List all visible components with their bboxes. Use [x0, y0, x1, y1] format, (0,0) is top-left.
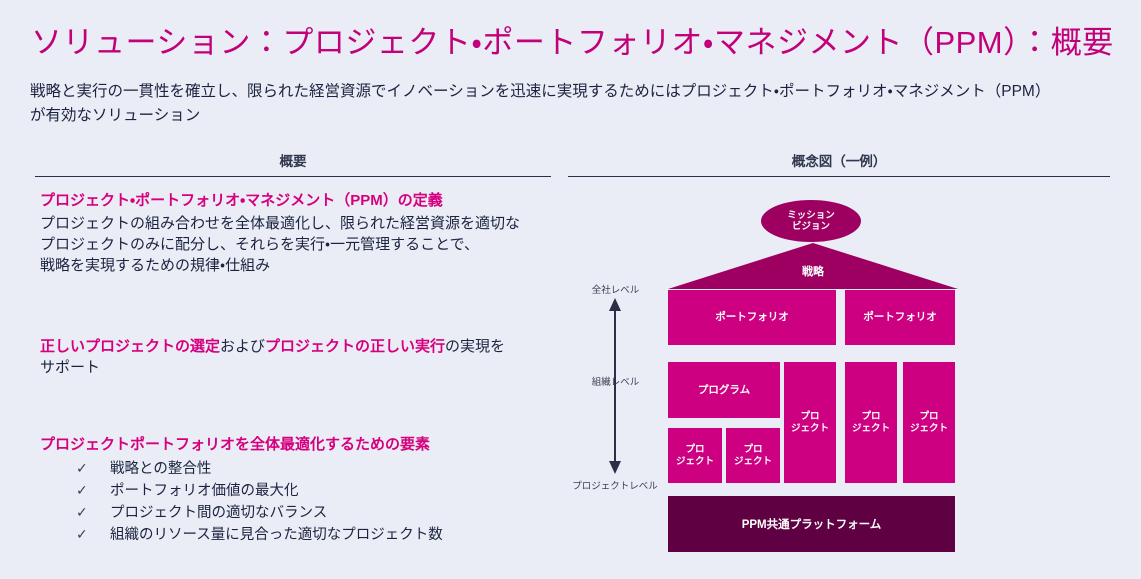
support-tail: の実現を: [445, 338, 505, 355]
definition-heading: プロジェクト・ポートフォリオ・マネジメント（PPM）の定義: [40, 190, 560, 212]
program-box-1: プログラム: [668, 362, 780, 418]
right-column-divider: [568, 176, 1110, 177]
definition-line-2: プロジェクトのみに配分し、それらを実行・一元管理することで、: [40, 234, 560, 255]
list-item-label: プロジェクト間の適切なバランス: [110, 505, 327, 521]
support-emphasis-2: プロジェクトの正しい実行: [265, 338, 445, 355]
project-box-d: プロ ジェクト: [845, 362, 897, 483]
list-item: ✓ 戦略との整合性: [76, 458, 560, 480]
list-item: ✓ プロジェクト間の適切なバランス: [76, 502, 560, 524]
list-item-label: ポートフォリオ価値の最大化: [110, 483, 299, 499]
left-column-header: 概要: [35, 150, 551, 170]
concept-diagram: ミッション ビジョン 戦略 ポートフォリオ ポートフォリオ プログラム プロ ジ…: [568, 186, 1110, 566]
page-title: ソリューション：プロジェクト・ポートフォリオ・マネジメント（PPM）：概要: [31, 17, 1114, 62]
level-label-project: プロジェクトレベル: [560, 478, 670, 492]
level-axis-arrow-icon: [594, 298, 636, 474]
mission-vision-ellipse: ミッション ビジョン: [761, 200, 861, 242]
list-item-label: 組織のリソース量に見合った適切なプロジェクト数: [110, 527, 443, 543]
mission-label: ミッション: [787, 210, 835, 221]
support-emphasis-1: 正しいプロジェクトの選定: [40, 338, 220, 355]
support-line-1: 正しいプロジェクトの選定およびプロジェクトの正しい実行の実現を: [40, 336, 560, 357]
project-box-c: プロ ジェクト: [784, 362, 836, 483]
level-label-company: 全社レベル: [563, 282, 668, 296]
factors-heading: プロジェクトポートフォリオを全体最適化するための要素: [40, 434, 560, 456]
support-block: 正しいプロジェクトの選定およびプロジェクトの正しい実行の実現を サポート: [40, 336, 560, 379]
list-item-label: 戦略との整合性: [110, 461, 211, 477]
check-icon: ✓: [76, 458, 88, 479]
project-box-b: プロ ジェクト: [726, 428, 780, 483]
list-item: ✓ ポートフォリオ価値の最大化: [76, 480, 560, 502]
definition-block: プロジェクト・ポートフォリオ・マネジメント（PPM）の定義 プロジェクトの組み合…: [40, 190, 560, 277]
vision-label: ビジョン: [792, 221, 830, 232]
check-icon: ✓: [76, 524, 88, 545]
left-column-divider: [35, 176, 551, 177]
factors-list: ✓ 戦略との整合性 ✓ ポートフォリオ価値の最大化 ✓ プロジェクト間の適切なバ…: [40, 458, 560, 546]
definition-line-1: プロジェクトの組み合わせを全体最適化し、限られた経営資源を適切な: [40, 213, 560, 234]
strategy-roof: 戦略: [668, 243, 958, 289]
check-icon: ✓: [76, 480, 88, 501]
definition-line-3: 戦略を実現するための規律・仕組み: [40, 255, 560, 276]
list-item: ✓ 組織のリソース量に見合った適切なプロジェクト数: [76, 524, 560, 546]
right-column-header: 概念図（一例）: [568, 150, 1110, 170]
project-box-e: プロ ジェクト: [903, 362, 955, 483]
platform-bar: PPM共通プラットフォーム: [668, 496, 955, 552]
support-connector: および: [220, 338, 265, 355]
slide-subtitle: 戦略と実行の一貫性を確立し、限られた経営資源でイノベーションを迅速に実現するため…: [30, 80, 1050, 128]
check-icon: ✓: [76, 502, 88, 523]
project-box-a: プロ ジェクト: [668, 428, 722, 483]
support-line-2: サポート: [40, 357, 560, 378]
portfolio-box-2: ポートフォリオ: [845, 290, 955, 345]
factors-block: プロジェクトポートフォリオを全体最適化するための要素 ✓ 戦略との整合性 ✓ ポ…: [40, 434, 560, 546]
portfolio-box-1: ポートフォリオ: [668, 290, 836, 345]
